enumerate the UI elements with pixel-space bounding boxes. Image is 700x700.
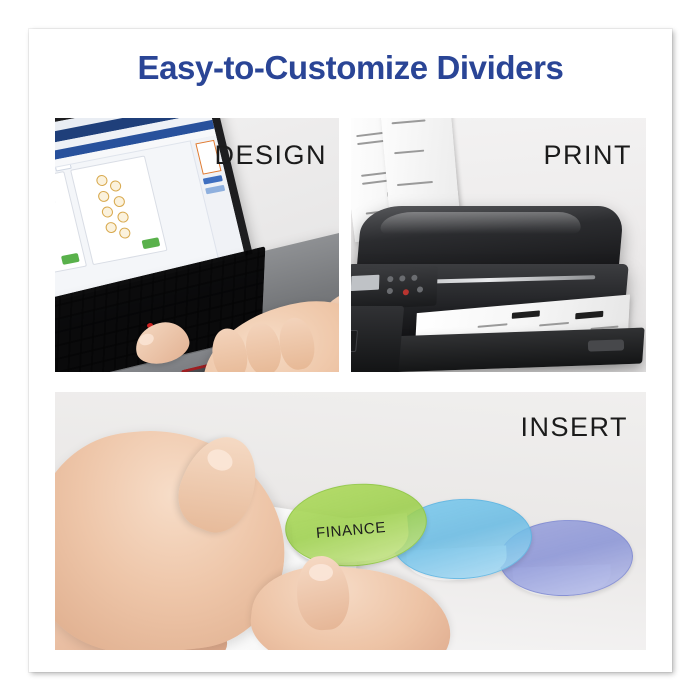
- panel-print: PRINT: [351, 118, 646, 372]
- preview-tab-circle: [109, 180, 122, 193]
- panel-insert: FINANCE INSERT: [55, 392, 646, 650]
- page-title: Easy-to-Customize Dividers: [29, 49, 672, 87]
- panel-label-design: DESIGN: [214, 140, 327, 171]
- preview-tab-circle: [97, 190, 110, 203]
- printer-button: [399, 275, 405, 281]
- printer-power-button: [403, 289, 409, 295]
- preview-tab-circle: [118, 227, 131, 240]
- product-card: Easy-to-Customize Dividers: [29, 29, 672, 672]
- preview-tab-circle: [104, 221, 117, 234]
- preview-next-button: [142, 237, 161, 249]
- label-text-line: [392, 119, 426, 124]
- printer-lcd-screen: [351, 275, 379, 291]
- preview-tab-circle: [113, 195, 126, 208]
- knuckle: [242, 321, 284, 372]
- printer-tray-handle: [588, 339, 624, 351]
- index-fingernail: [309, 564, 333, 581]
- printer-button: [411, 275, 417, 281]
- printer-control-panel: [351, 266, 438, 311]
- printer-button: [387, 276, 393, 282]
- label-text-line: [539, 322, 569, 327]
- form-apply-button: [61, 253, 80, 265]
- sidebar-action-chip: [205, 185, 225, 194]
- printer-memory-card-slot: [351, 330, 358, 352]
- sidebar-action-chip: [203, 175, 223, 184]
- label-mark: [575, 311, 603, 319]
- label-text-line: [478, 323, 508, 328]
- printer-button: [387, 288, 393, 294]
- printer-side-cover: [351, 306, 404, 372]
- printer-lid-highlight: [380, 212, 582, 234]
- design-preview-panel: [70, 155, 168, 265]
- label-text-line: [397, 181, 433, 186]
- label-mark: [512, 310, 540, 318]
- panel-label-insert: INSERT: [520, 412, 628, 443]
- label-text-line: [394, 150, 424, 155]
- knuckle: [276, 315, 318, 372]
- product-image-canvas: Easy-to-Customize Dividers: [0, 0, 700, 700]
- preview-tab-circle: [95, 174, 108, 187]
- preview-tab-circle: [116, 211, 129, 224]
- panel-label-print: PRINT: [544, 140, 633, 171]
- panel-design: DESIGN: [55, 118, 339, 372]
- preview-tab-circle: [101, 206, 114, 219]
- printer-button: [417, 286, 423, 292]
- label-text-line: [362, 180, 388, 185]
